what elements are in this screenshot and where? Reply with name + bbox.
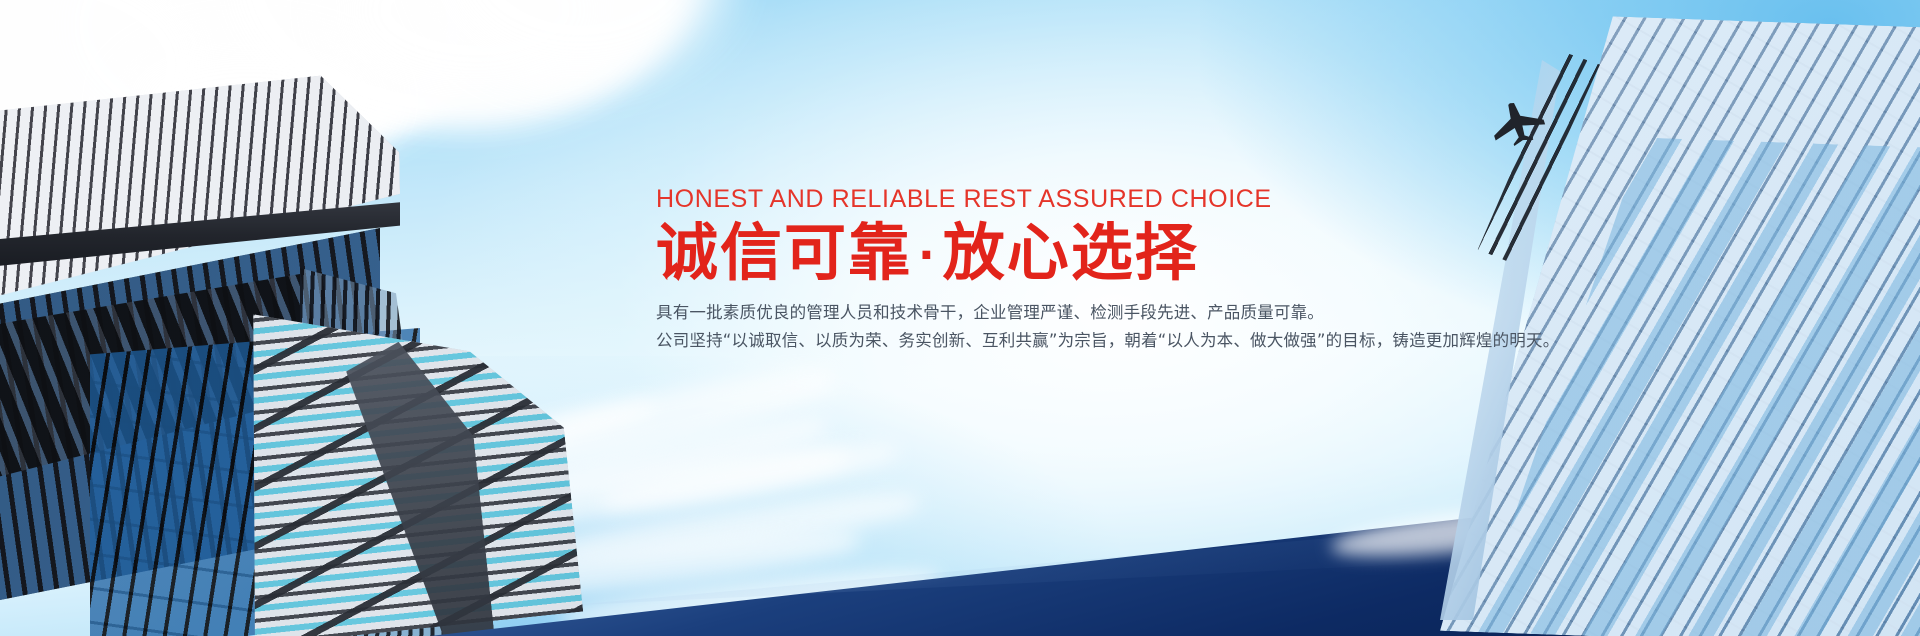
banner-eyebrow: HONEST AND RELIABLE REST ASSURED CHOICE	[656, 186, 1476, 214]
banner-body-text: 具有一批素质优良的管理人员和技术骨干，企业管理严谨、检测手段先进、产品质量可靠。…	[656, 299, 1476, 356]
headline-part-left: 诚信可靠	[656, 216, 912, 289]
headline-part-right: 放心选择	[943, 216, 1199, 289]
banner-headline: 诚信可靠·放心选择	[656, 220, 1476, 285]
banner-text-block: HONEST AND RELIABLE REST ASSURED CHOICE …	[656, 186, 1476, 355]
building-mid	[255, 316, 585, 636]
hero-banner: HONEST AND RELIABLE REST ASSURED CHOICE …	[0, 0, 1920, 636]
banner-body-line-1: 具有一批素质优良的管理人员和技术骨干，企业管理严谨、检测手段先进、产品质量可靠。	[656, 299, 1476, 327]
headline-separator-dot: ·	[912, 230, 943, 281]
banner-body-line-2: 公司坚持“以诚取信、以质为荣、务实创新、互利共赢”为宗旨，朝着“以人为本、做大做…	[656, 327, 1476, 355]
